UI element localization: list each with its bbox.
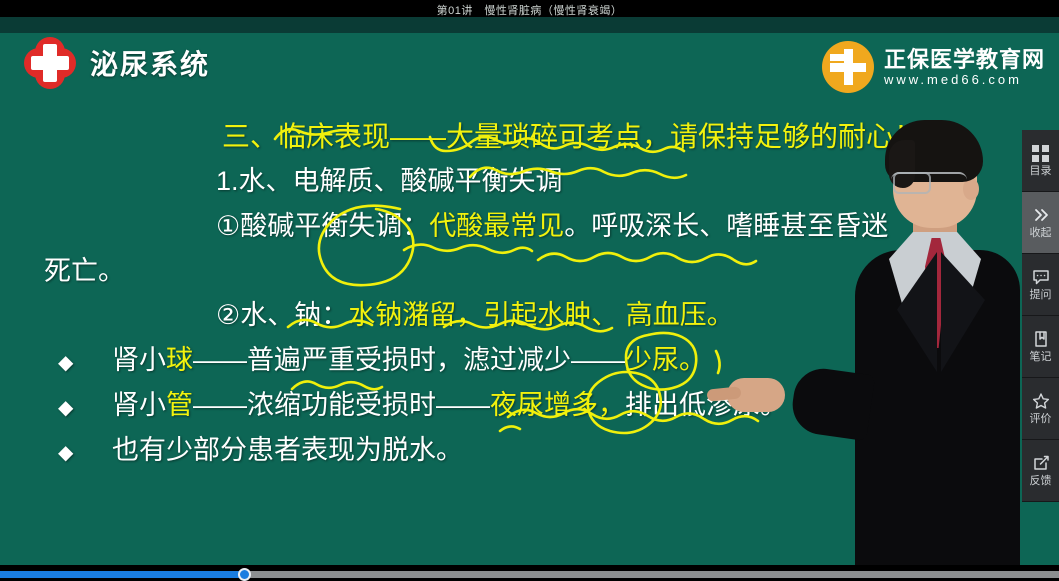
lecture-title: 第01讲 慢性肾脏病（慢性肾衰竭）: [437, 2, 623, 18]
yellow-circle-cross-icon: [822, 41, 874, 93]
slide-sub-1a-label: ①酸碱平衡失调：: [216, 211, 429, 241]
slide-sub-1b-highlight: 水钠潴留，引起水肿、 高血压。: [348, 300, 734, 330]
star-icon: [1032, 392, 1050, 410]
progress-handle[interactable]: [238, 568, 251, 581]
sidebar-item-rating[interactable]: 评价: [1022, 378, 1059, 440]
slide-subject-title: 泌尿系统: [90, 43, 210, 83]
course-brand-left: 泌尿系统: [24, 37, 210, 89]
slide-top-band: [0, 17, 1059, 33]
sidebar-item-notes[interactable]: 笔记: [1022, 316, 1059, 378]
red-cross-medical-icon: [24, 37, 76, 89]
slide-item-1: 1.水、电解质、酸碱平衡失调: [216, 168, 563, 195]
sidebar-label-feedback: 反馈: [1030, 476, 1052, 487]
sidebar-item-ask[interactable]: 提问: [1022, 254, 1059, 316]
progress-fill: [0, 571, 244, 578]
slide-sub-1a-cont: 死亡。: [44, 258, 125, 285]
player-bottom-bar: [0, 565, 1059, 581]
site-url: www.med66.com: [884, 73, 1045, 86]
slide-bullet-2-a: 肾小: [112, 390, 166, 420]
grid-menu-icon: [1032, 144, 1050, 162]
sidebar-label-catalog: 目录: [1030, 166, 1052, 177]
sidebar-item-feedback[interactable]: 反馈: [1022, 440, 1059, 502]
slide-bullet-1-b: ——普遍严重受损时，滤过减少——: [193, 345, 625, 375]
note-book-icon: [1032, 330, 1050, 348]
sidebar-label-collapse: 收起: [1030, 228, 1052, 239]
slide-heading: 三、临床表现——大量琐碎可考点，请保持足够的耐心！: [222, 123, 922, 151]
presenter-video-overlay: [845, 120, 1030, 565]
sidebar-item-catalog[interactable]: 目录: [1022, 130, 1059, 192]
slide-bullet-2-highlight-2: 夜尿增多，: [490, 390, 625, 420]
slide-bullet-2-b: ——浓缩功能受损时——: [193, 390, 490, 420]
slide-canvas: 泌尿系统 正保医学教育网 www.med66.com 三、临床表现——大量琐碎可…: [0, 17, 1059, 565]
slide-bullet-2-highlight: 管: [166, 390, 193, 420]
sidebar-item-collapse[interactable]: 收起: [1022, 192, 1059, 254]
site-brand-right: 正保医学教育网 www.med66.com: [822, 41, 1045, 93]
speech-bubble-icon: [1032, 268, 1050, 286]
slide-bullet-1-highlight-2: 少尿。: [625, 345, 706, 375]
bullet-diamond-3: ◆: [58, 440, 73, 465]
pencil-edit-icon: [1032, 454, 1050, 472]
tool-sidebar: 目录 收起 提问: [1022, 130, 1059, 502]
sidebar-label-rating: 评价: [1030, 414, 1052, 425]
slide-bullet-1-highlight: 球: [166, 345, 193, 375]
bullet-diamond-1: ◆: [58, 350, 73, 375]
title-bar: 第01讲 慢性肾脏病（慢性肾衰竭）: [0, 0, 1059, 17]
sidebar-label-notes: 笔记: [1030, 352, 1052, 363]
slide-bullet-3: 也有少部分患者表现为脱水。: [112, 437, 463, 464]
slide-sub-1b-label: ②水、钠：: [216, 300, 348, 330]
chevron-double-right-icon: [1032, 206, 1050, 224]
sidebar-label-ask: 提问: [1030, 290, 1052, 301]
slide-sub-1a-highlight: 代酸最常见: [429, 211, 564, 241]
slide-sub-1a-rest: 。呼吸深长、嗜睡甚至昏迷: [564, 211, 888, 241]
site-name: 正保医学教育网: [884, 49, 1045, 71]
video-player-window: 第01讲 慢性肾脏病（慢性肾衰竭） 泌尿系统 正保医学教育网 www.med66…: [0, 0, 1059, 581]
bullet-diamond-2: ◆: [58, 395, 73, 420]
slide-bullet-1-a: 肾小: [112, 345, 166, 375]
